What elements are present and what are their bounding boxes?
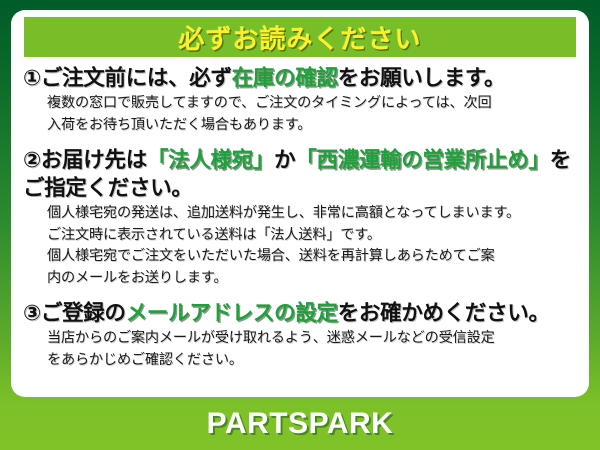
notice-item-3-body-line-1: 当店からのご案内メールが受け取れるよう、迷惑メールなどの受信設定 [47,328,579,350]
header-bar: 必ずお読みください [24,17,576,57]
page-title: 必ずお読みください [178,19,421,56]
notice-item-1-body: 複数の窓口で販売してますので、ご注文のタイミングによっては、次回 入荷をお待ち頂… [47,93,579,136]
notice-item-1-heading: ①ご注文前には、必ず在庫の確認をお願いします。 [23,64,579,92]
footer: PARTSPARK [0,397,600,450]
brand-logo: PARTSPARK [207,407,394,441]
notice-item-2-heading-part-1: ②お届け先は [23,148,147,172]
notice-item-2-body-line-4: 内のメールをお送りします。 [47,268,579,290]
notice-item-3-body-line-2: をあらかじめご確認ください。 [47,350,579,372]
notice-item-2-body-line-2: ご注文時に表示されている送料は「法人送料」です。 [47,225,579,247]
notice-item-1-heading-part-1: ①ご注文前には、必ず [23,66,232,90]
notice-item-3-keyword: メールアドレスの設定 [126,301,338,325]
notice-item-2-body-line-1: 個人様宅宛の発送は、追加送料が発生し、非常に高額となってしまいます。 [47,203,579,225]
notice-item-2-body: 個人様宅宛の発送は、追加送料が発生し、非常に高額となってしまいます。 ご注文時に… [47,203,579,289]
notice-banner: 必ずお読みください ①ご注文前には、必ず在庫の確認をお願いします。 複数の窓口で… [0,0,600,450]
notice-item-3: ③ご登録のメールアドレスの設定をお確かめください。 当店からのご案内メールが受け… [23,299,579,372]
notice-item-2-heading-part-3: か [274,148,295,172]
notice-item-3-heading: ③ご登録のメールアドレスの設定をお確かめください。 [23,299,579,327]
notice-item-2: ②お届け先は「法人様宛」か「西濃運輸の営業所止め」をご指定ください。 個人様宅宛… [23,146,579,290]
notice-content: ①ご注文前には、必ず在庫の確認をお願いします。 複数の窓口で販売してますので、ご… [11,64,589,373]
notice-item-1-body-line-2: 入荷をお待ち頂いただく場合もあります。 [47,115,579,137]
notice-item-1: ①ご注文前には、必ず在庫の確認をお願いします。 複数の窓口で販売してますので、ご… [23,64,579,137]
notice-item-2-body-line-3: 個人様宅宛でご注文をいただいた場合、送料を再計算しあらためてご案 [47,246,579,268]
notice-item-3-heading-part-1: ③ご登録の [23,301,126,325]
notice-item-1-body-line-1: 複数の窓口で販売してますので、ご注文のタイミングによっては、次回 [47,93,579,115]
notice-item-2-keyword-1: 「法人様宛」 [147,148,274,172]
notice-item-1-keyword: 在庫の確認 [232,66,338,90]
notice-item-3-body: 当店からのご案内メールが受け取れるよう、迷惑メールなどの受信設定 をあらかじめご… [47,328,579,371]
notice-item-1-heading-part-3: をお願いします。 [338,66,505,90]
notice-item-2-heading: ②お届け先は「法人様宛」か「西濃運輸の営業所止め」をご指定ください。 [23,146,579,203]
notice-item-3-heading-part-3: をお確かめください。 [338,301,550,325]
notice-item-2-keyword-2: 「西濃運輸の営業所止め」 [295,148,549,172]
notice-card: 必ずお読みください ①ご注文前には、必ず在庫の確認をお願いします。 複数の窓口で… [11,10,589,397]
